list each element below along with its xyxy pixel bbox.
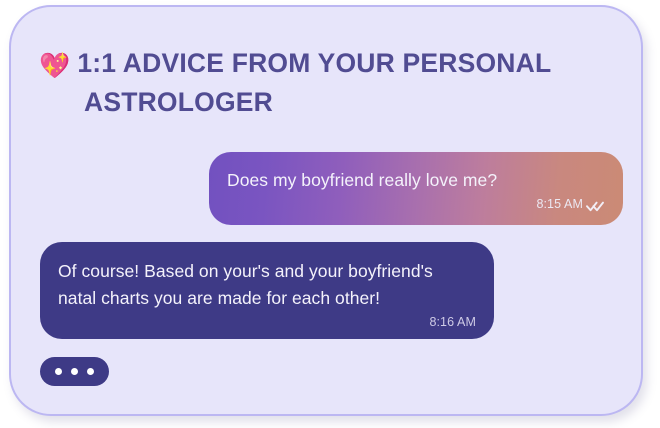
typing-indicator bbox=[40, 357, 109, 386]
typing-dot bbox=[55, 368, 62, 375]
message-row-typing bbox=[40, 357, 109, 386]
message-meta-incoming: 8:16 AM bbox=[58, 315, 476, 329]
message-line: natal charts you are made for each other… bbox=[58, 285, 476, 312]
message-text-outgoing: Does my boyfriend really love me? bbox=[227, 167, 605, 194]
message-timestamp: 8:15 AM bbox=[536, 197, 583, 211]
title-text-line-1: 1:1 ADVICE FROM YOUR PERSONAL bbox=[77, 48, 551, 78]
message-bubble-incoming[interactable]: Of course! Based on your's and your boyf… bbox=[40, 242, 494, 339]
message-row-incoming: Of course! Based on your's and your boyf… bbox=[40, 242, 494, 339]
screen: 💖1:1 ADVICE FROM YOUR PERSONAL ASTROLOGE… bbox=[0, 0, 660, 428]
typing-dot bbox=[87, 368, 94, 375]
message-list: Does my boyfriend really love me? 8:15 A… bbox=[11, 139, 641, 409]
typing-dot bbox=[71, 368, 78, 375]
message-row-outgoing: Does my boyfriend really love me? 8:15 A… bbox=[11, 152, 623, 225]
message-text-incoming: Of course! Based on your's and your boyf… bbox=[58, 258, 476, 312]
page-title: 💖1:1 ADVICE FROM YOUR PERSONAL ASTROLOGE… bbox=[39, 45, 599, 120]
message-line: Does my boyfriend really love me? bbox=[227, 167, 605, 194]
message-meta-outgoing: 8:15 AM bbox=[227, 197, 605, 211]
double-check-icon bbox=[586, 200, 605, 212]
message-timestamp: 8:16 AM bbox=[429, 315, 476, 329]
message-bubble-outgoing[interactable]: Does my boyfriend really love me? 8:15 A… bbox=[209, 152, 623, 225]
sparkling-heart-icon: 💖 bbox=[39, 51, 70, 80]
chat-card: 💖1:1 ADVICE FROM YOUR PERSONAL ASTROLOGE… bbox=[9, 5, 643, 416]
title-text-line-2: ASTROLOGER bbox=[39, 84, 599, 120]
message-line: Of course! Based on your's and your boyf… bbox=[58, 258, 476, 285]
title-line-1: 💖1:1 ADVICE FROM YOUR PERSONAL bbox=[39, 45, 599, 84]
